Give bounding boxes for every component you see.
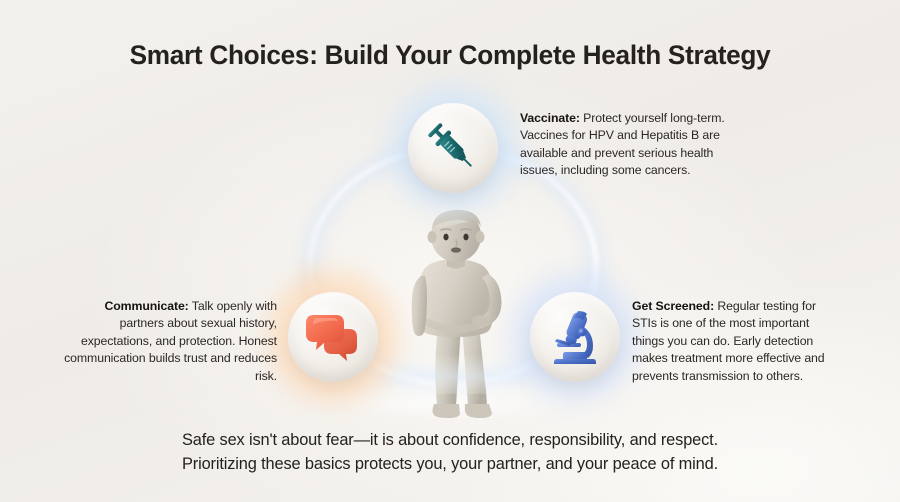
node-vaccinate[interactable] — [408, 103, 498, 193]
clay-person-figure — [392, 206, 520, 418]
node-communicate-label: Communicate: — [104, 299, 188, 313]
node-communicate-text: Communicate: Talk openly with partners a… — [62, 298, 277, 385]
microscope-icon — [548, 309, 602, 365]
node-get-screened-text: Get Screened: Regular testing for STIs i… — [632, 298, 837, 385]
node-get-screened-label: Get Screened: — [632, 299, 714, 313]
infographic-canvas: Smart Choices: Build Your Complete Healt… — [0, 0, 900, 502]
node-communicate[interactable] — [288, 292, 378, 382]
vaccinate-icon-circle[interactable] — [408, 103, 498, 193]
node-vaccinate-text: Vaccinate: Protect yourself long-term. V… — [520, 110, 745, 180]
get-screened-icon-circle[interactable] — [530, 292, 620, 382]
syringe-icon — [425, 120, 481, 176]
node-get-screened[interactable] — [530, 292, 620, 382]
caption-line-1: Safe sex isn't about fear—it is about co… — [0, 428, 900, 452]
speech-bubbles-icon — [304, 312, 362, 362]
caption-line-2: Prioritizing these basics protects you, … — [0, 452, 900, 476]
communicate-icon-circle[interactable] — [288, 292, 378, 382]
node-vaccinate-label: Vaccinate: — [520, 111, 580, 125]
footer-caption: Safe sex isn't about fear—it is about co… — [0, 428, 900, 476]
